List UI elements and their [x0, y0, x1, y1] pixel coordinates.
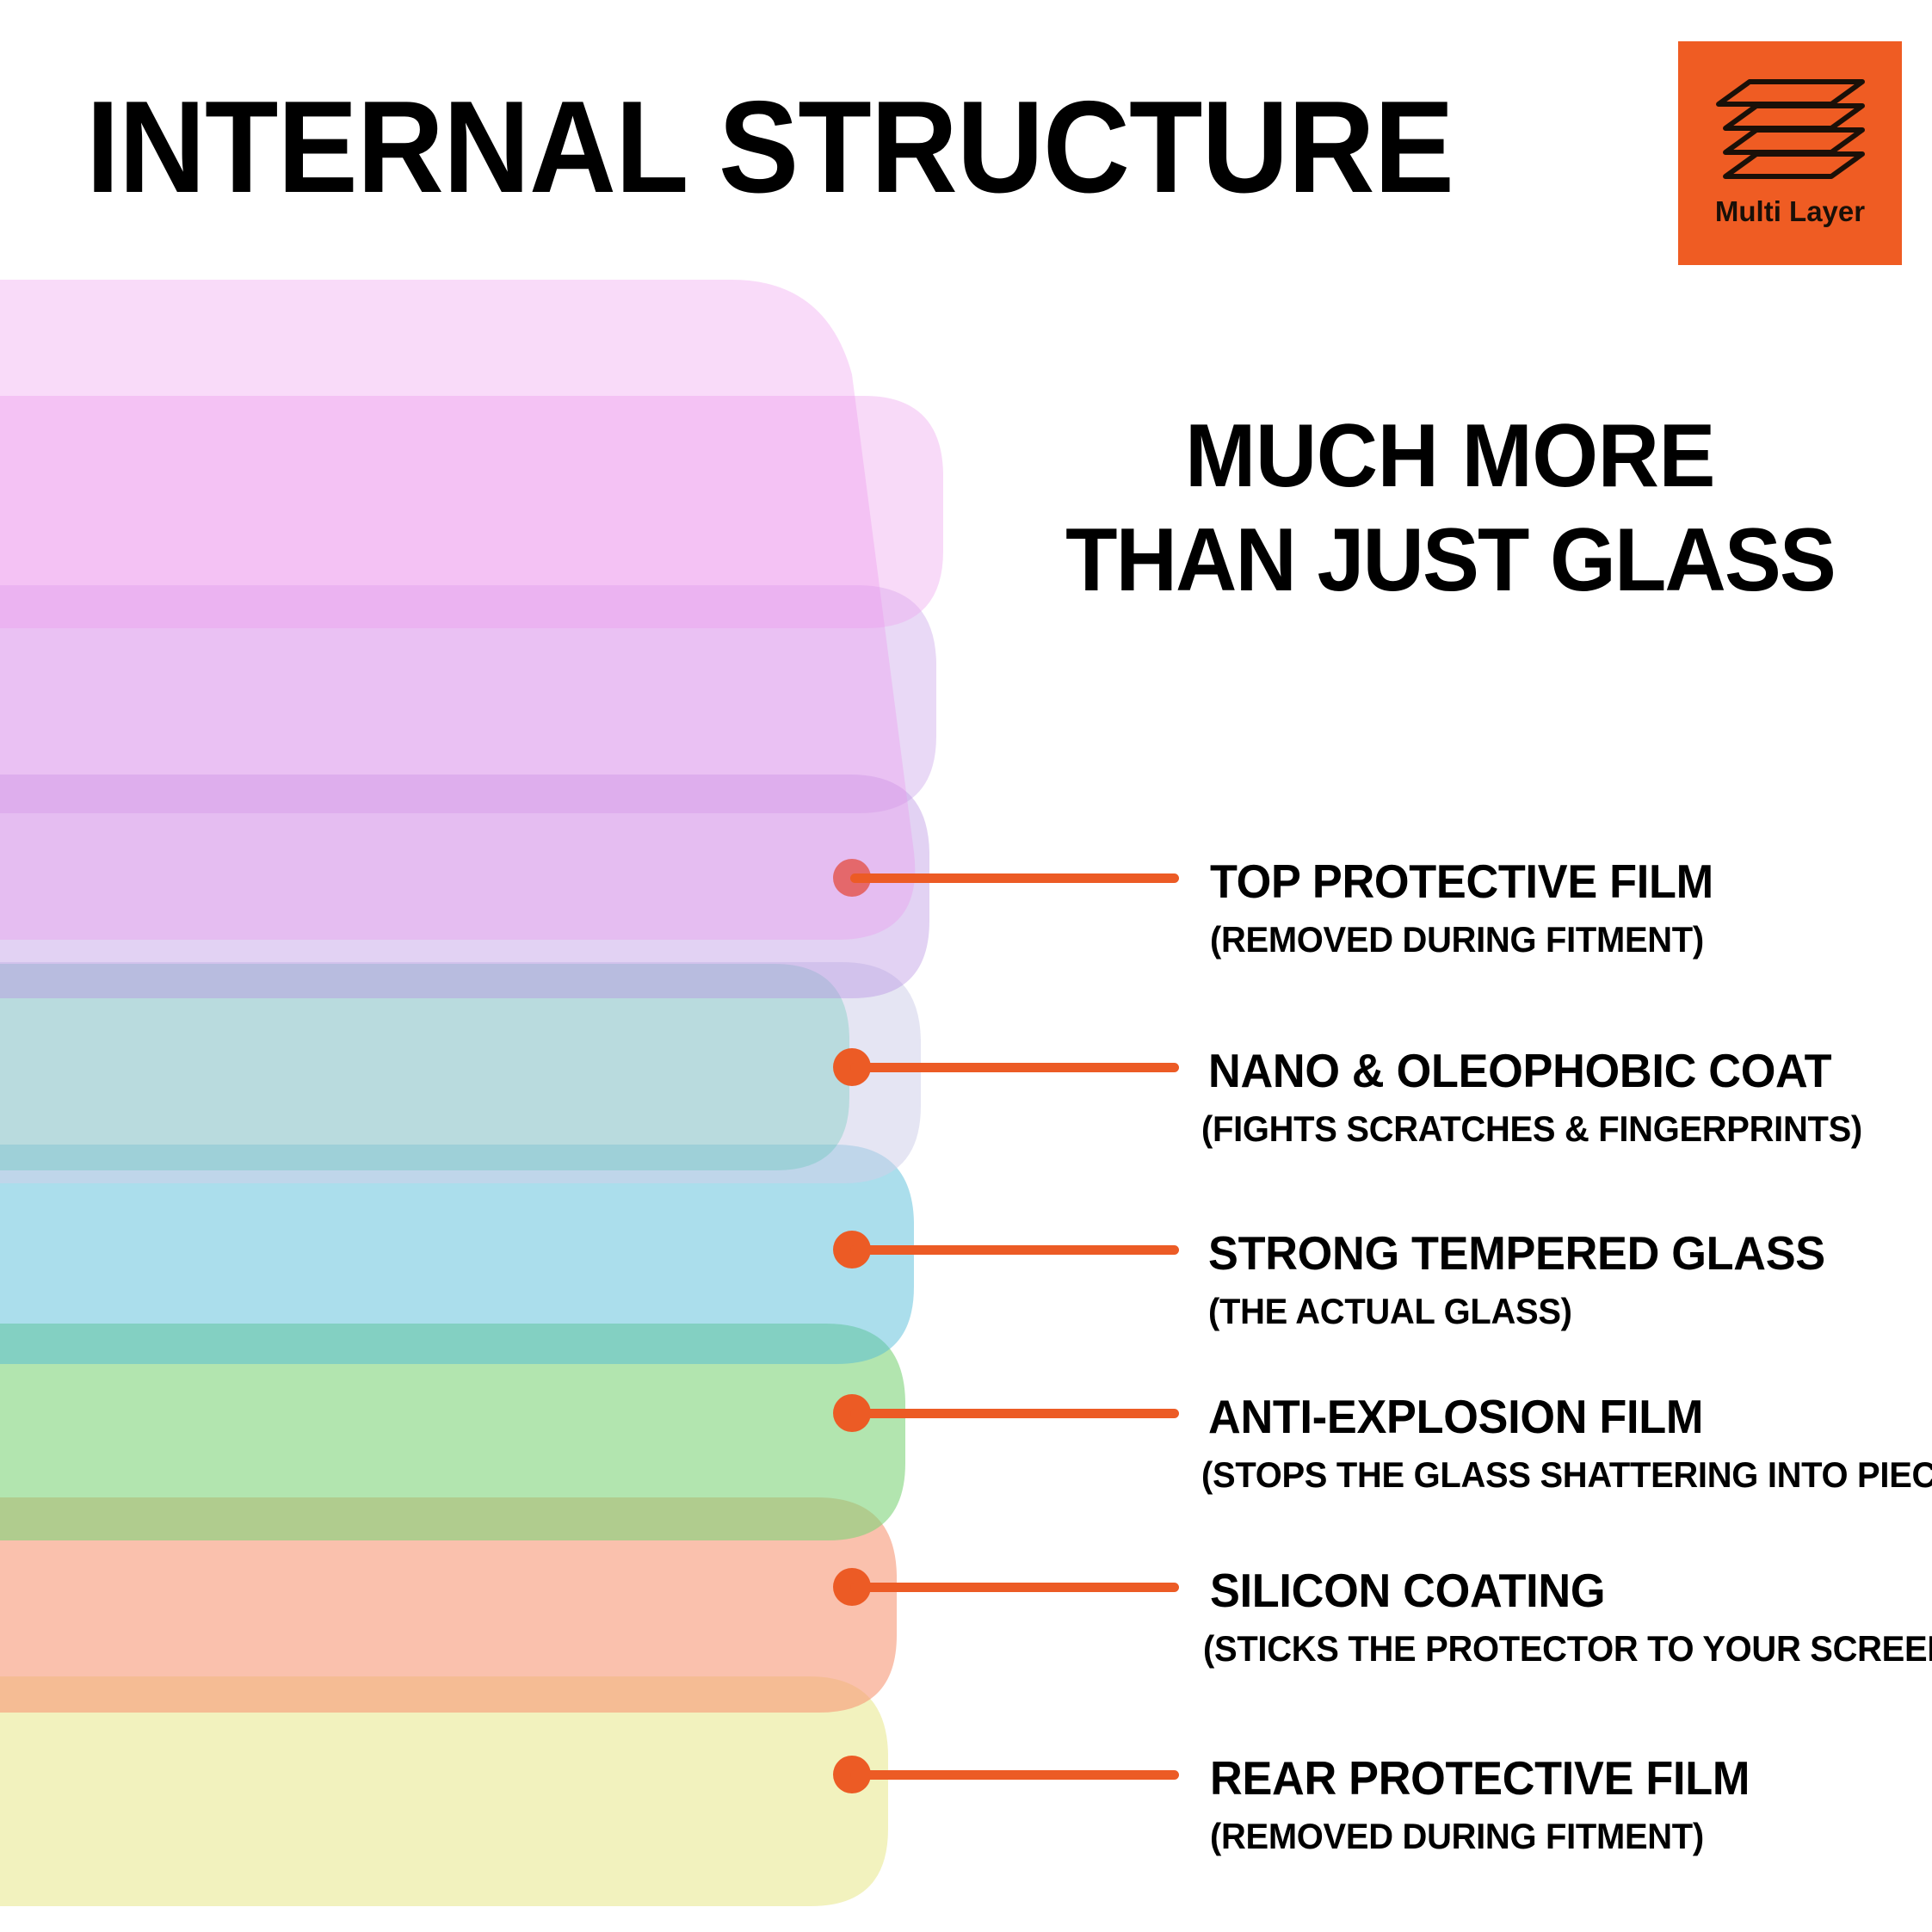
callout-leader-line-nano-oleophobic-coat — [850, 1063, 1179, 1072]
infographic-canvas: INTERNAL STRUCTURE Multi Layer MUCH MORE… — [0, 0, 1932, 1932]
multi-layer-badge: Multi Layer — [1678, 41, 1902, 265]
callout-title-strong-tempered-glass: STRONG TEMPERED GLASS — [1208, 1225, 1825, 1281]
layer-shape-anti-explosion-film — [0, 1324, 905, 1540]
badge-label: Multi Layer — [1715, 195, 1865, 228]
layer-shape-top-film-band-3 — [0, 775, 929, 998]
callout-subtitle-rear-protective-film: (REMOVED DURING FITMENT) — [1210, 1816, 1704, 1857]
callout-subtitle-nano-oleophobic-coat: (FIGHTS SCRATCHES & FINGERPRINTS) — [1201, 1108, 1862, 1150]
layer-shape-strong-tempered-glass — [0, 1145, 914, 1364]
callout-title-rear-protective-film: REAR PROTECTIVE FILM — [1210, 1750, 1750, 1805]
layer-shape-tempered-glass-tint — [0, 964, 849, 1170]
callout-title-nano-oleophobic-coat: NANO & OLEOPHOBIC COAT — [1208, 1043, 1831, 1098]
headline-line-1: MUCH MORE — [1017, 404, 1884, 509]
layer-shape-top-film-band-2 — [0, 585, 936, 813]
callout-subtitle-anti-explosion-film: (STOPS THE GLASS SHATTERING INTO PIECES) — [1201, 1454, 1932, 1496]
headline: MUCH MORE THAN JUST GLASS — [1017, 404, 1884, 612]
callout-leader-line-silicon-coating — [850, 1583, 1179, 1592]
callout-title-anti-explosion-film: ANTI-EXPLOSION FILM — [1208, 1389, 1703, 1444]
layer-shape-nano-oleophobic-coat — [0, 962, 921, 1183]
layer-stack-diagram — [0, 0, 947, 1932]
multi-layer-stack-icon — [1715, 78, 1866, 182]
layer-shape-top-film-band-1 — [0, 396, 943, 628]
callout-title-top-protective-film: TOP PROTECTIVE FILM — [1210, 854, 1713, 909]
callout-leader-line-strong-tempered-glass — [850, 1245, 1179, 1255]
callout-leader-line-rear-protective-film — [850, 1770, 1179, 1780]
callout-title-silicon-coating: SILICON COATING — [1210, 1563, 1605, 1618]
layer-shape-silicon-coating — [0, 1497, 897, 1713]
callout-subtitle-silicon-coating: (STICKS THE PROTECTOR TO YOUR SCREEN) — [1203, 1628, 1932, 1670]
callout-leader-line-top-protective-film — [850, 873, 1179, 883]
callout-subtitle-strong-tempered-glass: (THE ACTUAL GLASS) — [1208, 1291, 1572, 1332]
callout-leader-line-anti-explosion-film — [850, 1409, 1179, 1418]
headline-line-2: THAN JUST GLASS — [1017, 509, 1884, 613]
page-title: INTERNAL STRUCTURE — [86, 82, 1454, 213]
layer-shape-top-protective-film — [0, 280, 915, 940]
callout-subtitle-top-protective-film: (REMOVED DURING FITMENT) — [1210, 919, 1704, 960]
layer-shape-rear-protective-film — [0, 1676, 888, 1906]
